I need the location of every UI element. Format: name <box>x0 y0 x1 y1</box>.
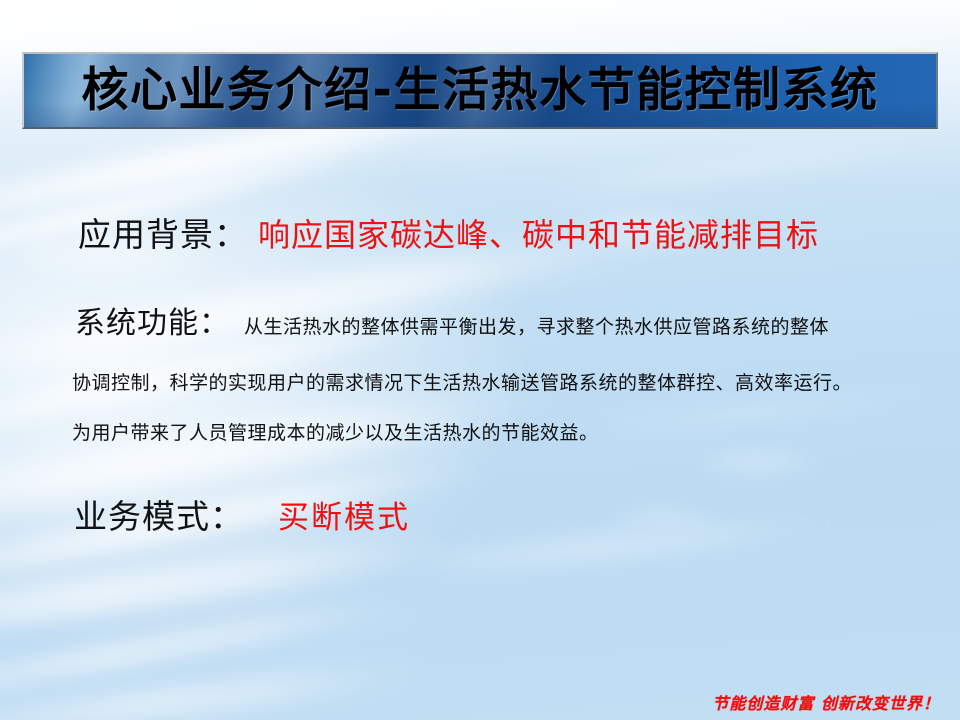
slide-canvas: 核心业务介绍-生活热水节能控制系统 应用背景： 响应国家碳达峰、碳中和节能减排目… <box>0 0 960 720</box>
footer-slogan: 节能创造财富 创新改变世界！ <box>712 690 940 714</box>
system-function-line-3: 为用户带来了人员管理成本的减少以及生活热水的节能效益。 <box>72 418 599 445</box>
section-system-function: 系统功能： 从生活热水的整体供需平衡出发，寻求整个热水供应管路系统的整体 <box>75 298 829 342</box>
title-banner: 核心业务介绍-生活热水节能控制系统 <box>22 52 938 129</box>
system-function-line-2: 协调控制，科学的实现用户的需求情况下生活热水输送管路系统的整体群控、高效率运行。 <box>72 368 852 395</box>
cloud-puff <box>614 504 714 530</box>
business-model-label: 业务模式： <box>74 490 244 538</box>
business-model-value: 买断模式 <box>278 492 410 537</box>
section-application-background: 应用背景： 响应国家碳达峰、碳中和节能减排目标 <box>78 208 819 256</box>
page-title: 核心业务介绍-生活热水节能控制系统 <box>81 67 878 114</box>
system-function-label: 系统功能： <box>75 298 230 342</box>
application-background-label: 应用背景： <box>78 208 248 256</box>
system-function-line-1: 从生活热水的整体供需平衡出发，寻求整个热水供应管路系统的整体 <box>244 312 829 339</box>
section-business-model: 业务模式： 买断模式 <box>74 490 410 538</box>
application-background-value: 响应国家碳达峰、碳中和节能减排目标 <box>258 210 819 256</box>
